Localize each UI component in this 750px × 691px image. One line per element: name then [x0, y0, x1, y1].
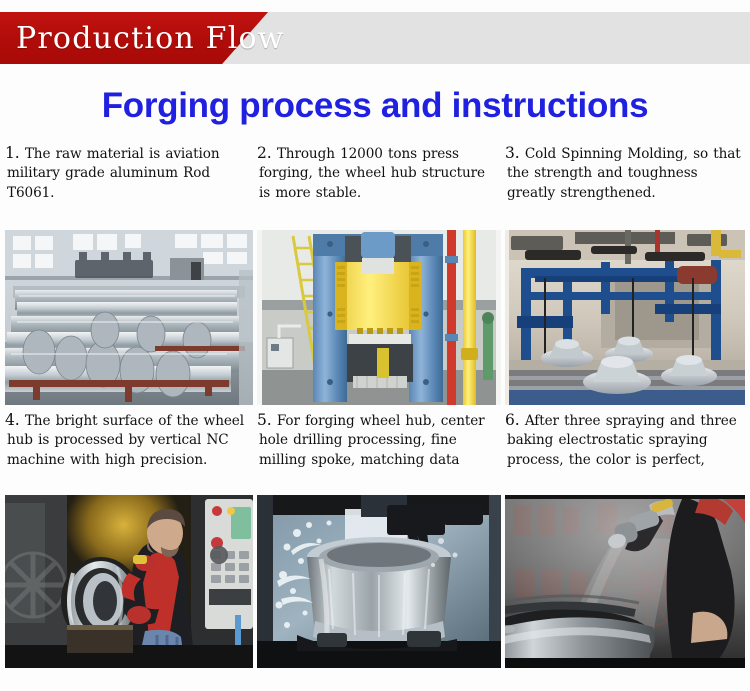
hydraulic-forging-press-photo	[257, 230, 501, 405]
step-6-text: 6. After three spraying and three baking…	[505, 409, 745, 495]
step-2-number: 2.	[257, 144, 272, 162]
nc-machine-operator-photo	[5, 495, 253, 668]
steps-row-2: 4. The bright surface of the wheel hub i…	[0, 409, 750, 677]
cold-spinning-line-illustration	[505, 230, 745, 405]
steps-grid: 1. The raw material is aviation military…	[0, 142, 750, 677]
aluminum-billet-stack-photo	[5, 230, 253, 405]
hydraulic-forging-press-illustration	[257, 230, 501, 405]
step-3-text: 3. Cold Spinning Molding, so that the st…	[505, 142, 745, 230]
header-banner: Production Flow	[0, 12, 750, 64]
step-3-number: 3.	[505, 144, 520, 162]
step-6-body: After three spraying and three baking el…	[507, 413, 737, 468]
step-1: 1. The raw material is aviation military…	[5, 142, 253, 405]
step-3-body: Cold Spinning Molding, so that the stren…	[507, 146, 741, 201]
cold-spinning-line-photo	[505, 230, 745, 405]
electrostatic-spraying-illustration	[505, 495, 745, 668]
page-title: Forging process and instructions	[0, 86, 750, 126]
production-flow-page: Production Flow Forging process and inst…	[0, 0, 750, 691]
step-4-body: The bright surface of the wheel hub is p…	[7, 413, 244, 468]
step-5-number: 5.	[257, 411, 272, 429]
nc-machine-operator-illustration	[5, 495, 253, 668]
step-5-body: For forging wheel hub, center hole drill…	[259, 413, 485, 468]
step-1-text: 1. The raw material is aviation military…	[5, 142, 253, 230]
steps-row-1: 1. The raw material is aviation military…	[0, 142, 750, 409]
step-2-body: Through 12000 tons press forging, the wh…	[259, 146, 485, 201]
step-6-number: 6.	[505, 411, 520, 429]
step-6: 6. After three spraying and three baking…	[505, 409, 745, 668]
step-4-text: 4. The bright surface of the wheel hub i…	[5, 409, 253, 495]
step-1-body: The raw material is aviation military gr…	[7, 146, 220, 201]
step-4: 4. The bright surface of the wheel hub i…	[5, 409, 253, 668]
step-1-number: 1.	[5, 144, 20, 162]
banner-title: Production Flow	[16, 12, 285, 64]
step-5: 5. For forging wheel hub, center hole dr…	[257, 409, 501, 668]
step-2-text: 2. Through 12000 tons press forging, the…	[257, 142, 501, 230]
cnc-milling-coolant-illustration	[257, 495, 501, 668]
step-5-text: 5. For forging wheel hub, center hole dr…	[257, 409, 501, 495]
electrostatic-spraying-photo	[505, 495, 745, 668]
step-4-number: 4.	[5, 411, 20, 429]
step-2: 2. Through 12000 tons press forging, the…	[257, 142, 501, 405]
aluminum-billet-stack-illustration	[5, 230, 253, 405]
cnc-milling-coolant-photo	[257, 495, 501, 668]
step-3: 3. Cold Spinning Molding, so that the st…	[505, 142, 745, 405]
